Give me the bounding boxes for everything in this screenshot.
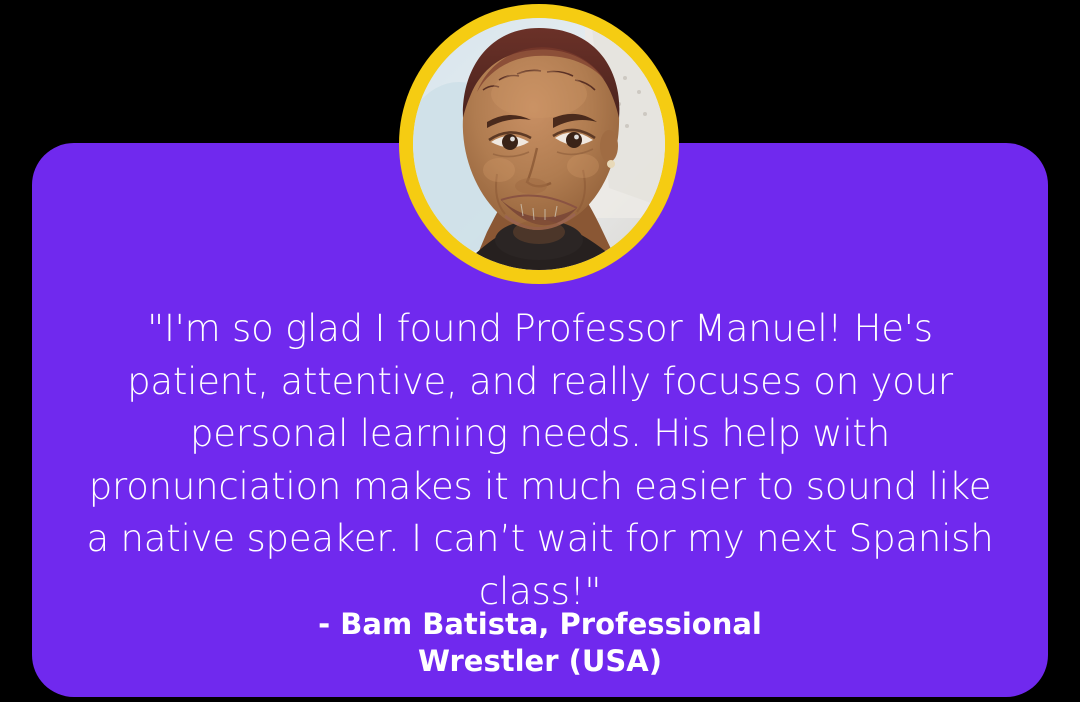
testimonial-attribution: - Bam Batista, Professional Wrestler (US… bbox=[80, 606, 1000, 680]
testimonial-card-root: "I'm so glad I found Professor Manuel! H… bbox=[0, 0, 1080, 702]
avatar bbox=[399, 4, 679, 284]
avatar-photo bbox=[413, 18, 665, 270]
testimonial-quote: "I'm so glad I found Professor Manuel! H… bbox=[80, 303, 1000, 618]
